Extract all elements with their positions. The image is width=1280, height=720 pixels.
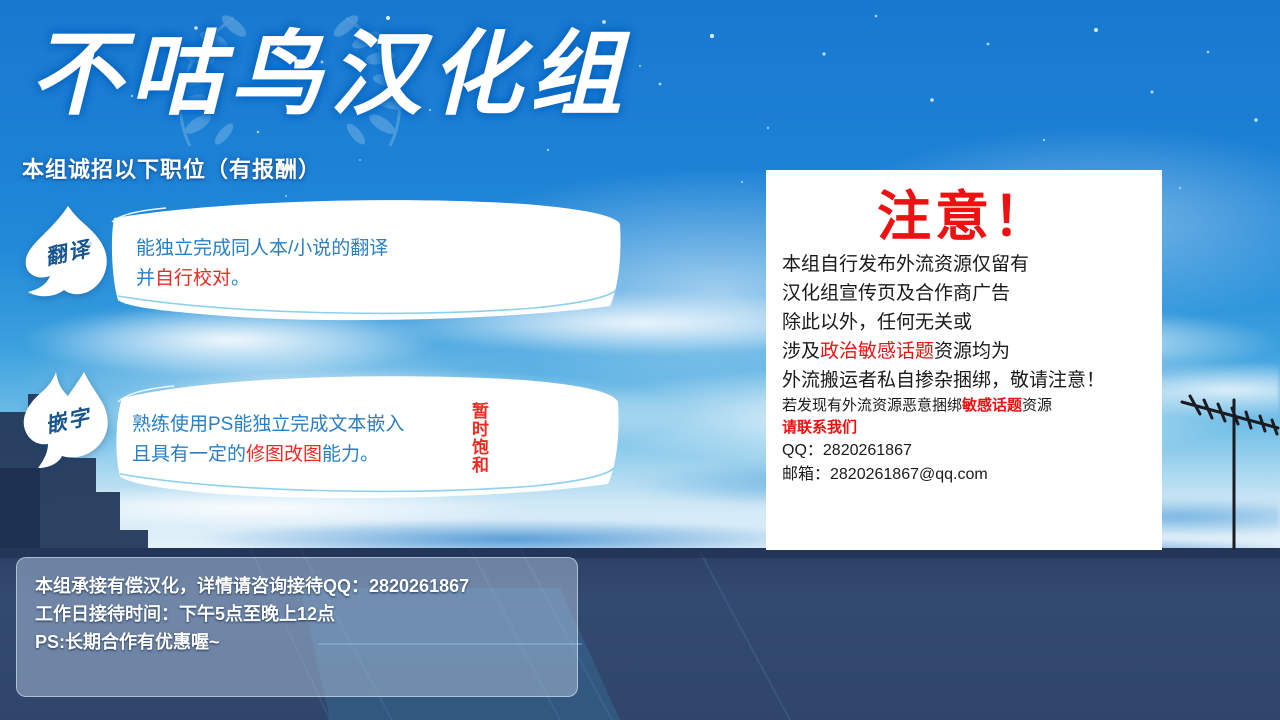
highlight-political-topics: 政治敏感话题 (820, 341, 934, 362)
bubble-typeset-line2: 且具有一定的修图改图能力。 (132, 440, 404, 470)
notice-small-note: 若发现有外流资源恶意捆绑敏感话题资源 (782, 395, 1162, 417)
bubble-typeset-line1: 熟练使用PS能独立完成文本嵌入 (132, 410, 404, 440)
info-line-ps: PS:长期合作有优惠喔~ (35, 628, 577, 656)
bubble-translate-line2: 并自行校对。 (136, 264, 388, 294)
page-subtitle: 本组诚招以下职位（有报酬） (22, 152, 321, 184)
highlight-sensitive-topics: 敏感话题 (962, 397, 1022, 414)
bubble-typeset: 熟练使用PS能独立完成文本嵌入 且具有一定的修图改图能力。 (104, 368, 624, 504)
info-line-hours: 工作日接待时间：下午5点至晚上12点 (35, 600, 577, 628)
notice-title: 注意！ (766, 186, 1162, 248)
status-badge-saturated: 暂时饱和 (468, 402, 489, 474)
highlight-photo-editing: 修图改图 (246, 444, 322, 465)
page-title-text: 不咕鸟汉化组 (30, 21, 631, 128)
notice-qq[interactable]: QQ：2820261867 (782, 439, 1162, 463)
info-line-paid-service: 本组承接有偿汉化，详情请咨询接待QQ：2820261867 (35, 558, 577, 600)
info-box: 本组承接有偿汉化，详情请咨询接待QQ：2820261867 工作日接待时间：下午… (16, 557, 578, 697)
notice-line-2: 汉化组宣传页及合作商广告 (782, 279, 1162, 308)
notice-email[interactable]: 邮箱：2820261867@qq.com (782, 463, 1162, 487)
bubble-translate-text: 能独立完成同人本/小说的翻译 并自行校对。 (136, 234, 388, 294)
bubble-translate-line1: 能独立完成同人本/小说的翻译 (136, 234, 388, 264)
highlight-self-proofread: 自行校对 (155, 268, 231, 289)
notice-line-5: 外流搬运者私自掺杂捆绑，敬请注意！ (782, 366, 1162, 395)
notice-line-1: 本组自行发布外流资源仅留有 (782, 250, 1162, 279)
bubble-translate: 能独立完成同人本/小说的翻译 并自行校对。 (104, 196, 624, 326)
notice-line-3: 除此以外，任何无关或 (782, 308, 1162, 337)
notice-panel: 注意！ 本组自行发布外流资源仅留有 汉化组宣传页及合作商广告 除此以外，任何无关… (766, 170, 1162, 550)
notice-contact-cta: 请联系我们 (782, 417, 1162, 439)
banner-stage: 不咕鸟汉化组 本组诚招以下职位（有报酬） (0, 0, 1280, 720)
notice-line-4: 涉及政治敏感话题资源均为 (782, 337, 1162, 366)
page-title: 不咕鸟汉化组 (26, 14, 746, 132)
tv-antenna-icon (1178, 388, 1280, 550)
bubble-typeset-text: 熟练使用PS能独立完成文本嵌入 且具有一定的修图改图能力。 (132, 410, 404, 470)
